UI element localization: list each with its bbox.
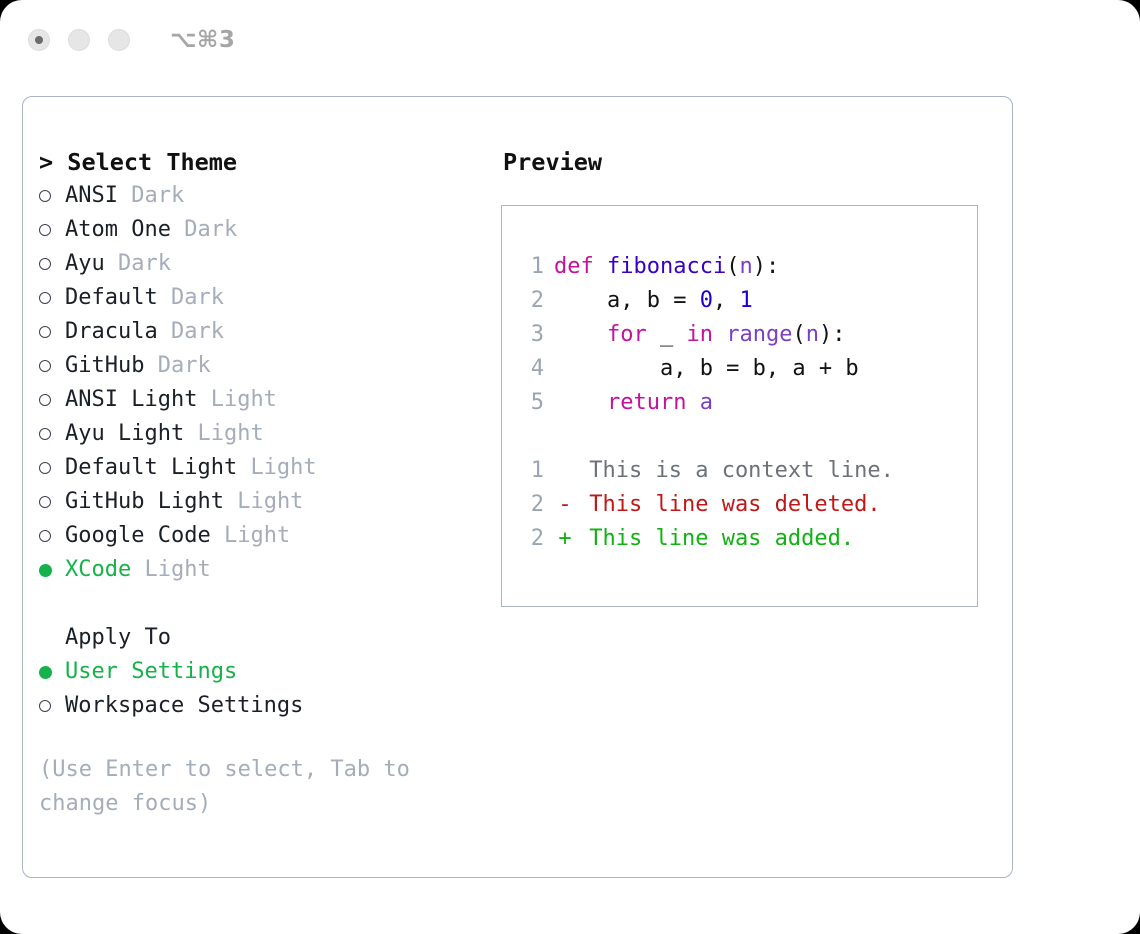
radio-unselected-icon[interactable] — [39, 417, 65, 451]
radio-unselected-icon[interactable] — [39, 383, 65, 417]
theme-variant: Dark — [118, 247, 171, 281]
code-token: return — [607, 390, 686, 415]
theme-option-default-light[interactable]: Default Light Light — [39, 451, 501, 485]
diff-line-number: 1 — [520, 454, 544, 488]
window-light-third-icon[interactable] — [108, 29, 130, 51]
radio-mark — [39, 190, 51, 202]
code-token: n — [806, 322, 819, 347]
theme-variant: Dark — [171, 281, 224, 315]
radio-mark — [39, 224, 51, 236]
preview-separator — [520, 420, 977, 454]
window-light-active-icon[interactable] — [28, 29, 50, 51]
window-light-dot — [35, 36, 43, 44]
keyboard-shortcut-label: ⌥⌘3 — [170, 27, 235, 53]
code-line-number: 3 — [520, 318, 544, 352]
theme-option-xcode[interactable]: XCode Light — [39, 553, 501, 587]
radio-mark — [39, 326, 51, 338]
code-token: 1 — [739, 288, 752, 313]
code-token: , — [713, 288, 740, 313]
radio-mark — [39, 530, 51, 542]
code-token — [554, 390, 607, 415]
theme-name-spacer — [211, 519, 224, 553]
code-line: 2 a, b = 0, 1 — [520, 284, 977, 318]
code-token: n — [739, 254, 752, 279]
theme-name: ANSI — [65, 179, 118, 213]
theme-option-ansi-light[interactable]: ANSI Light Light — [39, 383, 501, 417]
apply-to-name: User Settings — [65, 655, 237, 689]
diff-text: This line was deleted. — [576, 488, 881, 522]
code-line-content: def fibonacci(n): — [554, 250, 779, 284]
theme-name: Ayu — [65, 247, 105, 281]
radio-selected-icon[interactable] — [39, 553, 65, 587]
code-line-number: 5 — [520, 386, 544, 420]
code-token — [554, 322, 607, 347]
radio-unselected-icon[interactable] — [39, 213, 65, 247]
preview-box: 1def fibonacci(n):2 a, b = 0, 13 for _ i… — [501, 205, 978, 607]
theme-option-ansi[interactable]: ANSI Dark — [39, 179, 501, 213]
theme-name-spacer — [197, 383, 210, 417]
radio-mark — [39, 462, 51, 474]
code-token: in — [686, 322, 713, 347]
theme-variant: Dark — [184, 213, 237, 247]
theme-name-spacer — [224, 485, 237, 519]
radio-mark — [39, 666, 52, 679]
diff-marker: + — [554, 522, 576, 556]
theme-name: Ayu Light — [65, 417, 184, 451]
radio-unselected-icon[interactable] — [39, 689, 65, 723]
theme-list[interactable]: ANSI DarkAtom One DarkAyu DarkDefault Da… — [39, 179, 501, 587]
theme-option-default[interactable]: Default Dark — [39, 281, 501, 315]
app-window: ⌥⌘3 > Select Theme ANSI DarkAtom One Dar… — [0, 0, 1140, 934]
code-token: for — [607, 322, 647, 347]
code-line: 1def fibonacci(n): — [520, 250, 977, 284]
code-token: ( — [792, 322, 805, 347]
theme-name-spacer — [171, 213, 184, 247]
code-token: ): — [819, 322, 846, 347]
code-token: range — [726, 322, 792, 347]
theme-name: Default Light — [65, 451, 237, 485]
theme-variant: Light — [144, 553, 210, 587]
title-bar: ⌥⌘3 — [0, 0, 1140, 80]
theme-name: Default — [65, 281, 158, 315]
radio-unselected-icon[interactable] — [39, 485, 65, 519]
code-line-content: a, b = b, a + b — [554, 352, 859, 386]
code-token: ): — [753, 254, 780, 279]
theme-name-spacer — [131, 553, 144, 587]
theme-option-ayu-light[interactable]: Ayu Light Light — [39, 417, 501, 451]
theme-name-spacer — [158, 281, 171, 315]
theme-option-google-code[interactable]: Google Code Light — [39, 519, 501, 553]
theme-name: Atom One — [65, 213, 171, 247]
window-controls — [28, 29, 130, 51]
diff-line-number: 2 — [520, 488, 544, 522]
theme-list-column: > Select Theme ANSI DarkAtom One DarkAyu… — [23, 97, 501, 877]
code-line-content: return a — [554, 386, 713, 420]
theme-variant: Light — [211, 383, 277, 417]
code-token: _ — [647, 322, 687, 347]
theme-variant: Dark — [171, 315, 224, 349]
radio-mark — [39, 292, 51, 304]
diff-text: This is a context line. — [576, 454, 894, 488]
diff-sample: 1 This is a context line.2- This line wa… — [520, 454, 977, 556]
code-line-number: 2 — [520, 284, 544, 318]
theme-variant: Light — [224, 519, 290, 553]
theme-name: XCode — [65, 553, 131, 587]
radio-unselected-icon[interactable] — [39, 315, 65, 349]
code-token: def — [554, 254, 594, 279]
radio-mark — [39, 428, 51, 440]
theme-name: ANSI Light — [65, 383, 197, 417]
theme-variant: Dark — [131, 179, 184, 213]
diff-marker — [554, 454, 576, 488]
radio-unselected-icon[interactable] — [39, 179, 65, 213]
keyboard-hint-text: (Use Enter to select, Tab to change focu… — [39, 753, 451, 821]
theme-variant: Light — [197, 417, 263, 451]
code-token — [713, 322, 726, 347]
theme-name-spacer — [237, 451, 250, 485]
code-line: 4 a, b = b, a + b — [520, 352, 977, 386]
radio-mark — [39, 496, 51, 508]
theme-name-spacer — [105, 247, 118, 281]
theme-name-spacer — [184, 417, 197, 451]
radio-mark — [39, 700, 51, 712]
diff-text: This line was added. — [576, 522, 854, 556]
radio-unselected-icon[interactable] — [39, 451, 65, 485]
theme-option-atom-one[interactable]: Atom One Dark — [39, 213, 501, 247]
theme-variant: Dark — [158, 349, 211, 383]
code-token: fibonacci — [607, 254, 726, 279]
theme-picker-panel: > Select Theme ANSI DarkAtom One DarkAyu… — [22, 96, 1013, 878]
code-line-number: 4 — [520, 352, 544, 386]
code-token: a, b = — [554, 288, 700, 313]
apply-to-option-user-settings[interactable]: User Settings — [39, 655, 501, 689]
apply-to-name: Workspace Settings — [65, 689, 303, 723]
radio-unselected-icon[interactable] — [39, 247, 65, 281]
code-token: a — [700, 390, 713, 415]
theme-option-ayu[interactable]: Ayu Dark — [39, 247, 501, 281]
select-theme-heading: > Select Theme — [39, 145, 501, 179]
radio-unselected-icon[interactable] — [39, 519, 65, 553]
code-line-number: 1 — [520, 250, 544, 284]
radio-mark — [39, 360, 51, 372]
diff-line: 2- This line was deleted. — [520, 488, 977, 522]
theme-name: GitHub Light — [65, 485, 224, 519]
code-token — [594, 254, 607, 279]
apply-to-list[interactable]: User SettingsWorkspace Settings — [39, 655, 501, 723]
theme-option-github[interactable]: GitHub Dark — [39, 349, 501, 383]
theme-variant: Light — [250, 451, 316, 485]
radio-mark — [39, 258, 51, 270]
apply-to-option-workspace-settings[interactable]: Workspace Settings — [39, 689, 501, 723]
code-token: a, b = b, a + b — [554, 356, 859, 381]
theme-option-dracula[interactable]: Dracula Dark — [39, 315, 501, 349]
diff-line: 1 This is a context line. — [520, 454, 977, 488]
diff-marker: - — [554, 488, 576, 522]
code-line-content: a, b = 0, 1 — [554, 284, 753, 318]
theme-name: GitHub — [65, 349, 144, 383]
code-sample: 1def fibonacci(n):2 a, b = 0, 13 for _ i… — [520, 250, 977, 420]
preview-title: Preview — [503, 145, 1012, 179]
theme-option-github-light[interactable]: GitHub Light Light — [39, 485, 501, 519]
code-line: 5 return a — [520, 386, 977, 420]
theme-name-spacer — [144, 349, 157, 383]
apply-to-label: Apply To — [39, 621, 501, 655]
radio-selected-icon[interactable] — [39, 655, 65, 689]
radio-unselected-icon[interactable] — [39, 281, 65, 315]
radio-unselected-icon[interactable] — [39, 349, 65, 383]
radio-mark — [39, 564, 52, 577]
theme-name: Google Code — [65, 519, 211, 553]
diff-line: 2+ This line was added. — [520, 522, 977, 556]
preview-column: Preview 1def fibonacci(n):2 a, b = 0, 13… — [501, 97, 1012, 877]
radio-mark — [39, 394, 51, 406]
theme-name: Dracula — [65, 315, 158, 349]
theme-variant: Light — [237, 485, 303, 519]
code-line: 3 for _ in range(n): — [520, 318, 977, 352]
diff-line-number: 2 — [520, 522, 544, 556]
theme-name-spacer — [158, 315, 171, 349]
window-light-second-icon[interactable] — [68, 29, 90, 51]
code-token: ( — [726, 254, 739, 279]
theme-name-spacer — [118, 179, 131, 213]
code-token: 0 — [700, 288, 713, 313]
code-token — [686, 390, 699, 415]
code-line-content: for _ in range(n): — [554, 318, 845, 352]
